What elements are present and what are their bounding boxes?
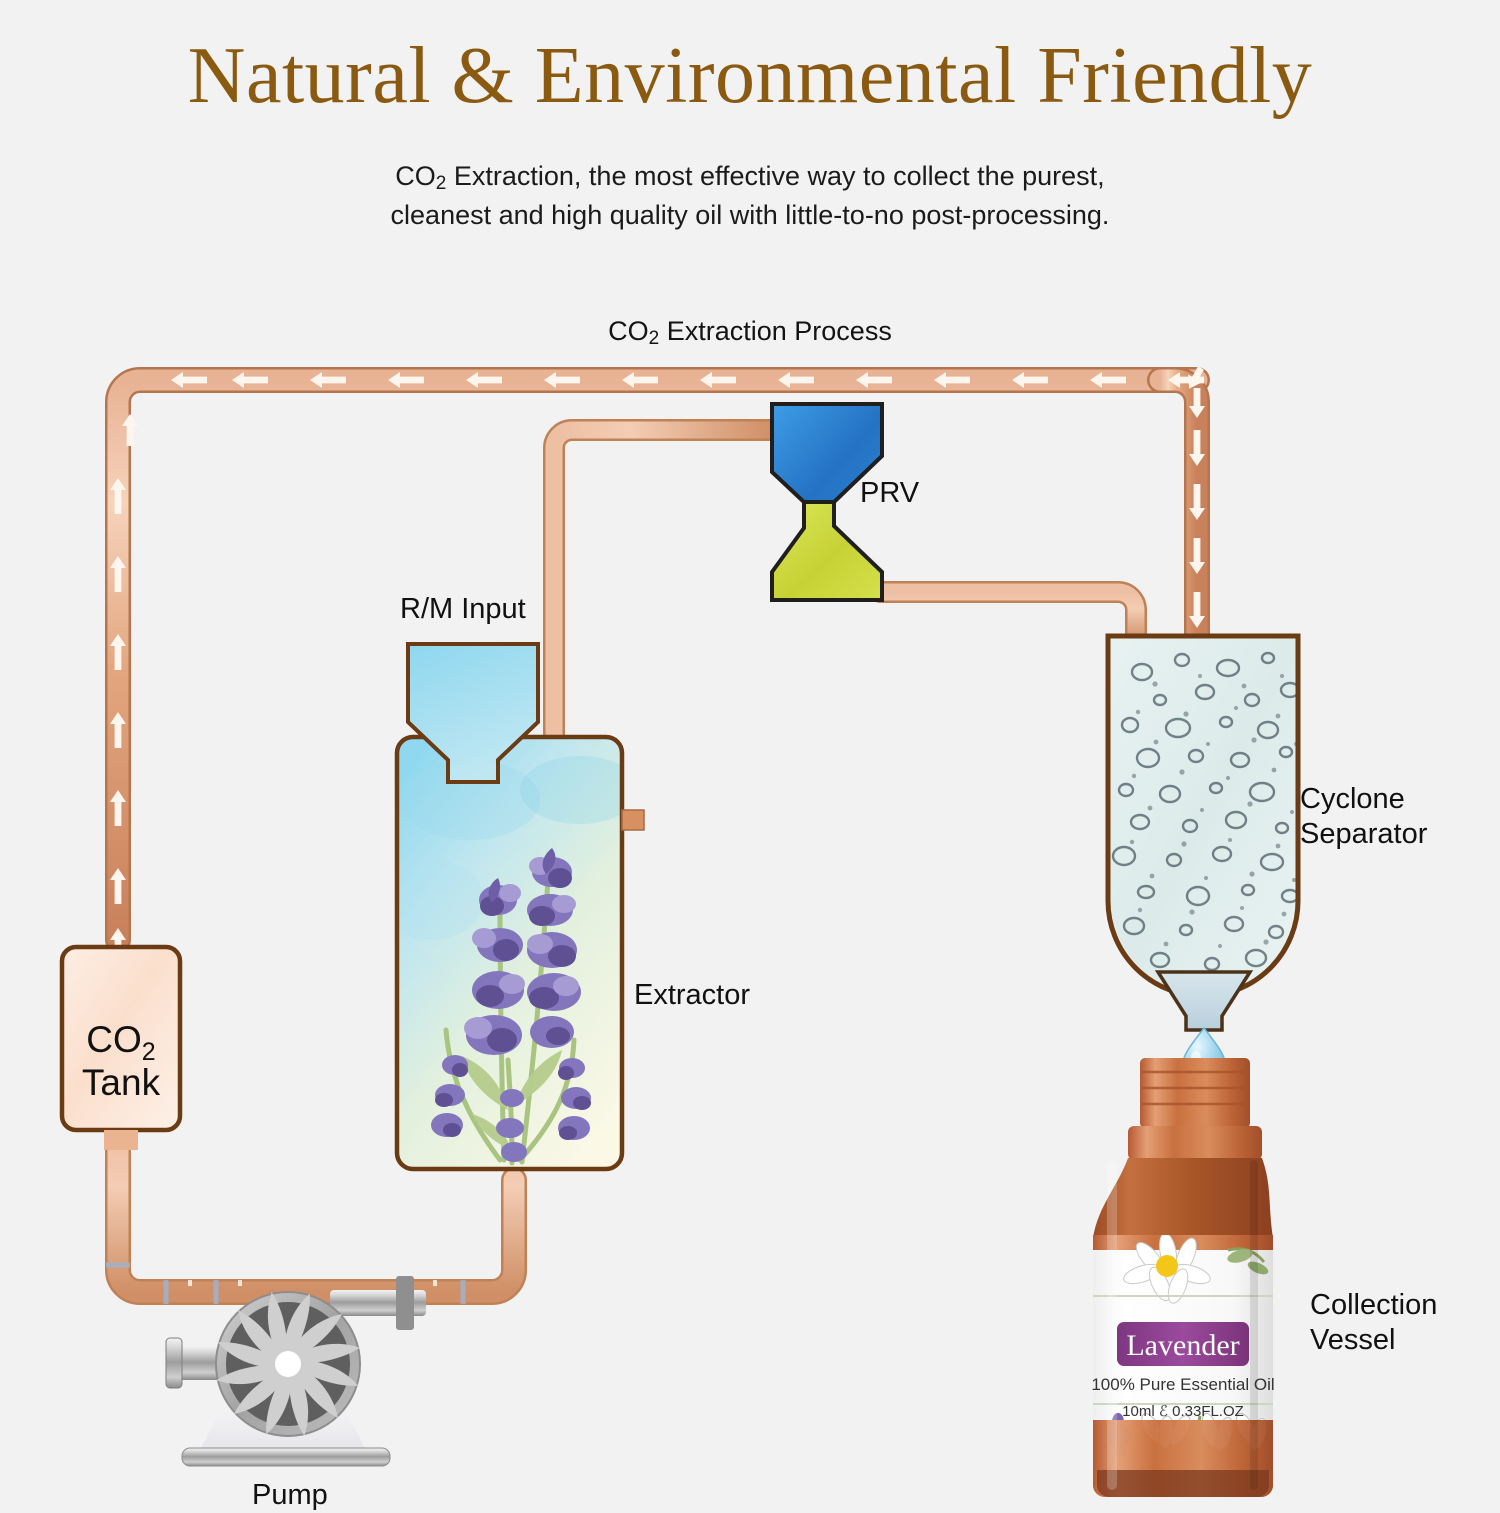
process-diagram: CO2 Tank <box>0 0 1500 1500</box>
label-rm-input: R/M Input <box>400 592 526 627</box>
pipe-main-loop <box>118 380 1197 940</box>
pipe-extractor-to-prv <box>554 430 772 760</box>
pipe-prv-to-separator <box>880 592 1136 640</box>
extractor-vessel[interactable] <box>375 737 644 1169</box>
separator-nozzle <box>1158 972 1250 1030</box>
label-extractor: Extractor <box>634 978 750 1013</box>
co2-tank-label-line2: Tank <box>82 1062 161 1103</box>
collection-bottle[interactable] <box>1093 1058 1273 1497</box>
bottle-tagline: 100% Pure Essential Oil <box>1091 1375 1274 1394</box>
cyclone-separator[interactable] <box>1108 636 1299 1030</box>
label-cyclone-separator: Cyclone Separator <box>1300 782 1427 853</box>
label-prv: PRV <box>860 476 919 511</box>
infographic-canvas: Natural & Environmental Friendly CO2 Ext… <box>0 0 1500 1500</box>
bottle-name: Lavender <box>1126 1329 1239 1362</box>
label-pump: Pump <box>252 1478 328 1513</box>
bottle-volume: 10ml ℰ 0.33FL.OZ <box>1122 1403 1244 1420</box>
label-collection-vessel: Collection Vessel <box>1310 1288 1437 1359</box>
